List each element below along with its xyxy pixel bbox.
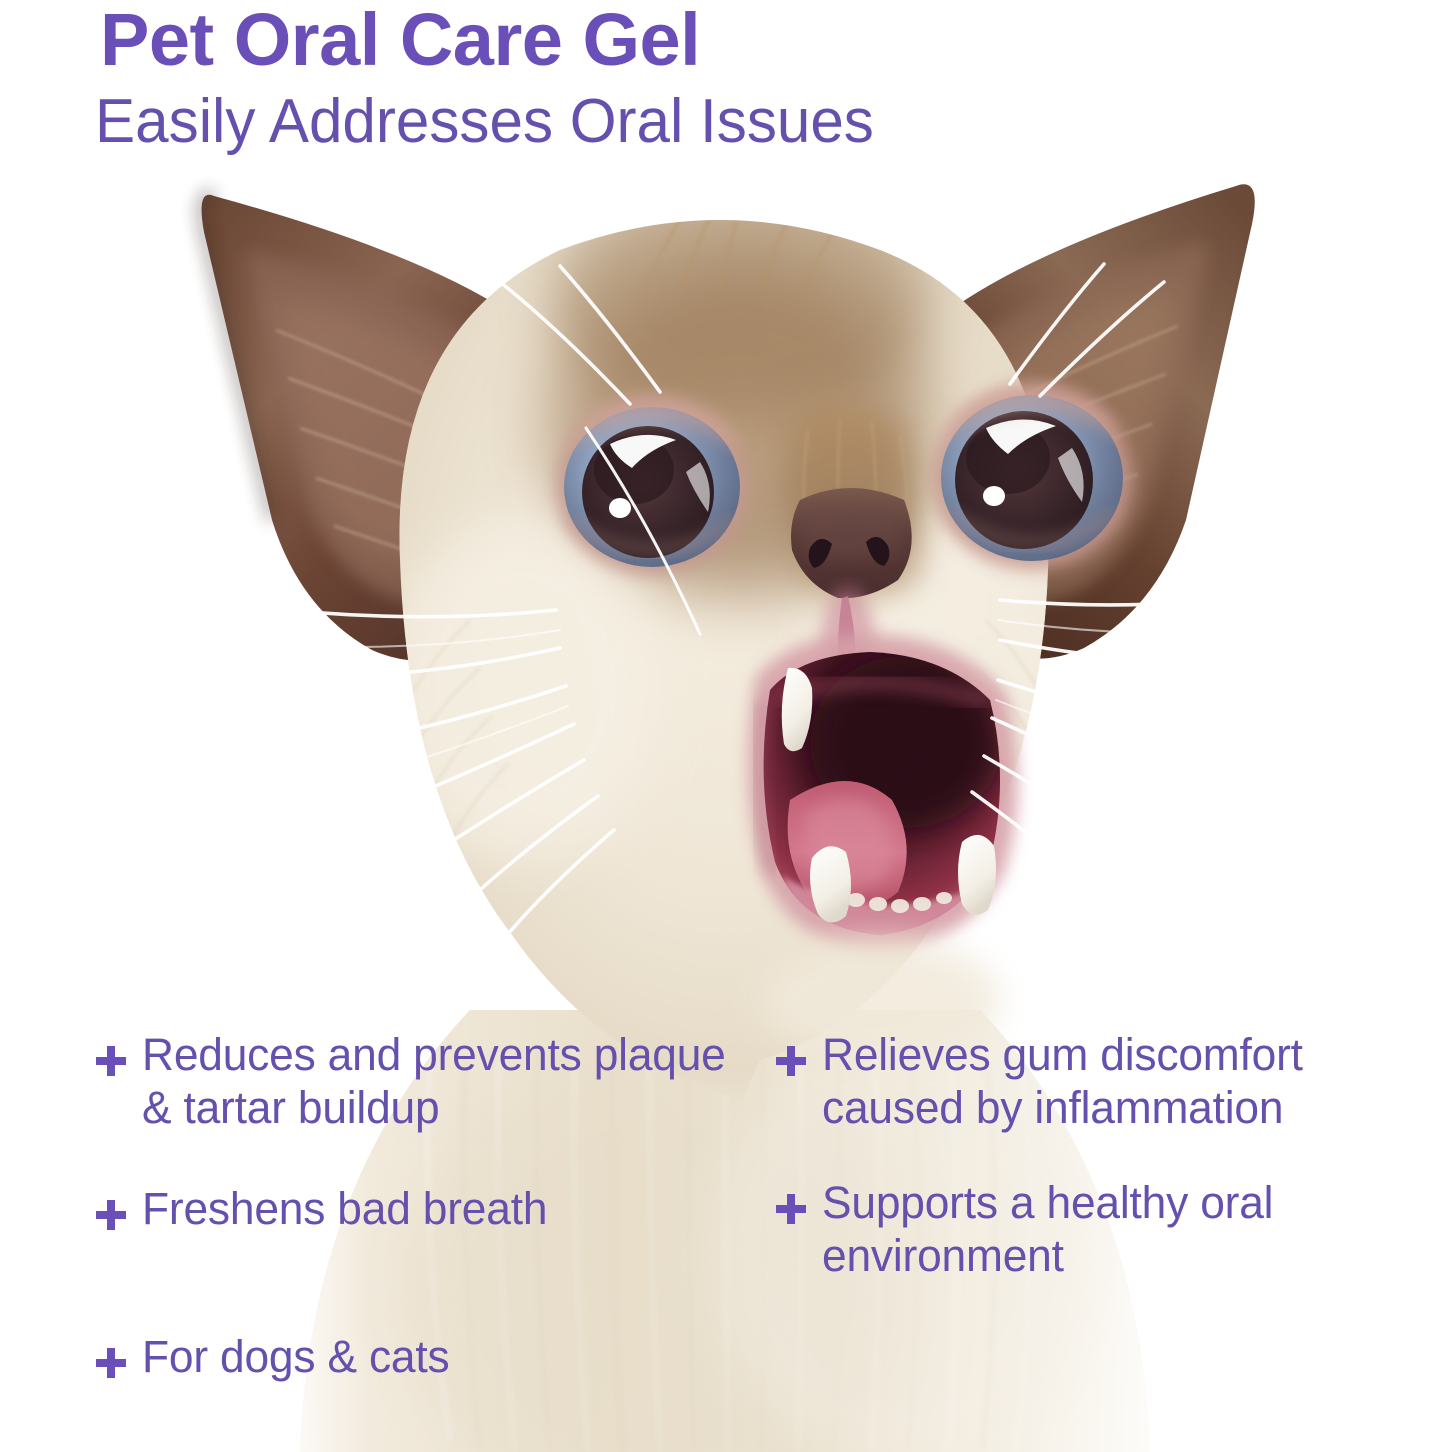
benefit-text: Reduces and prevents plaque & tartar bui…: [142, 1028, 751, 1134]
plus-icon: [776, 1176, 822, 1224]
page-title: Pet Oral Care Gel: [0, 0, 1445, 75]
page-subtitle: Easily Addresses Oral Issues: [0, 75, 1402, 154]
product-marketing-image: Pet Oral Care Gel Easily Addresses Oral …: [0, 0, 1445, 1452]
header-block: Pet Oral Care Gel Easily Addresses Oral …: [0, 0, 1445, 154]
benefit-text: Freshens bad breath: [142, 1182, 547, 1235]
benefit-text: Supports a healthy oral environment: [822, 1176, 1436, 1282]
benefit-text: For dogs & cats: [142, 1330, 449, 1383]
benefit-text: Relieves gum discomfort caused by inflam…: [822, 1028, 1436, 1134]
list-item: Reduces and prevents plaque & tartar bui…: [0, 1028, 760, 1134]
list-item: Supports a healthy oral environment: [760, 1134, 1445, 1282]
plus-icon: [776, 1028, 822, 1076]
plus-icon: [96, 1028, 142, 1076]
list-item: Relieves gum discomfort caused by inflam…: [760, 1028, 1445, 1134]
plus-icon: [96, 1182, 142, 1230]
list-item: Freshens bad breath: [0, 1134, 760, 1282]
benefits-list: Reduces and prevents plaque & tartar bui…: [0, 1028, 1445, 1383]
plus-icon: [96, 1330, 142, 1378]
list-item: For dogs & cats: [0, 1282, 760, 1383]
